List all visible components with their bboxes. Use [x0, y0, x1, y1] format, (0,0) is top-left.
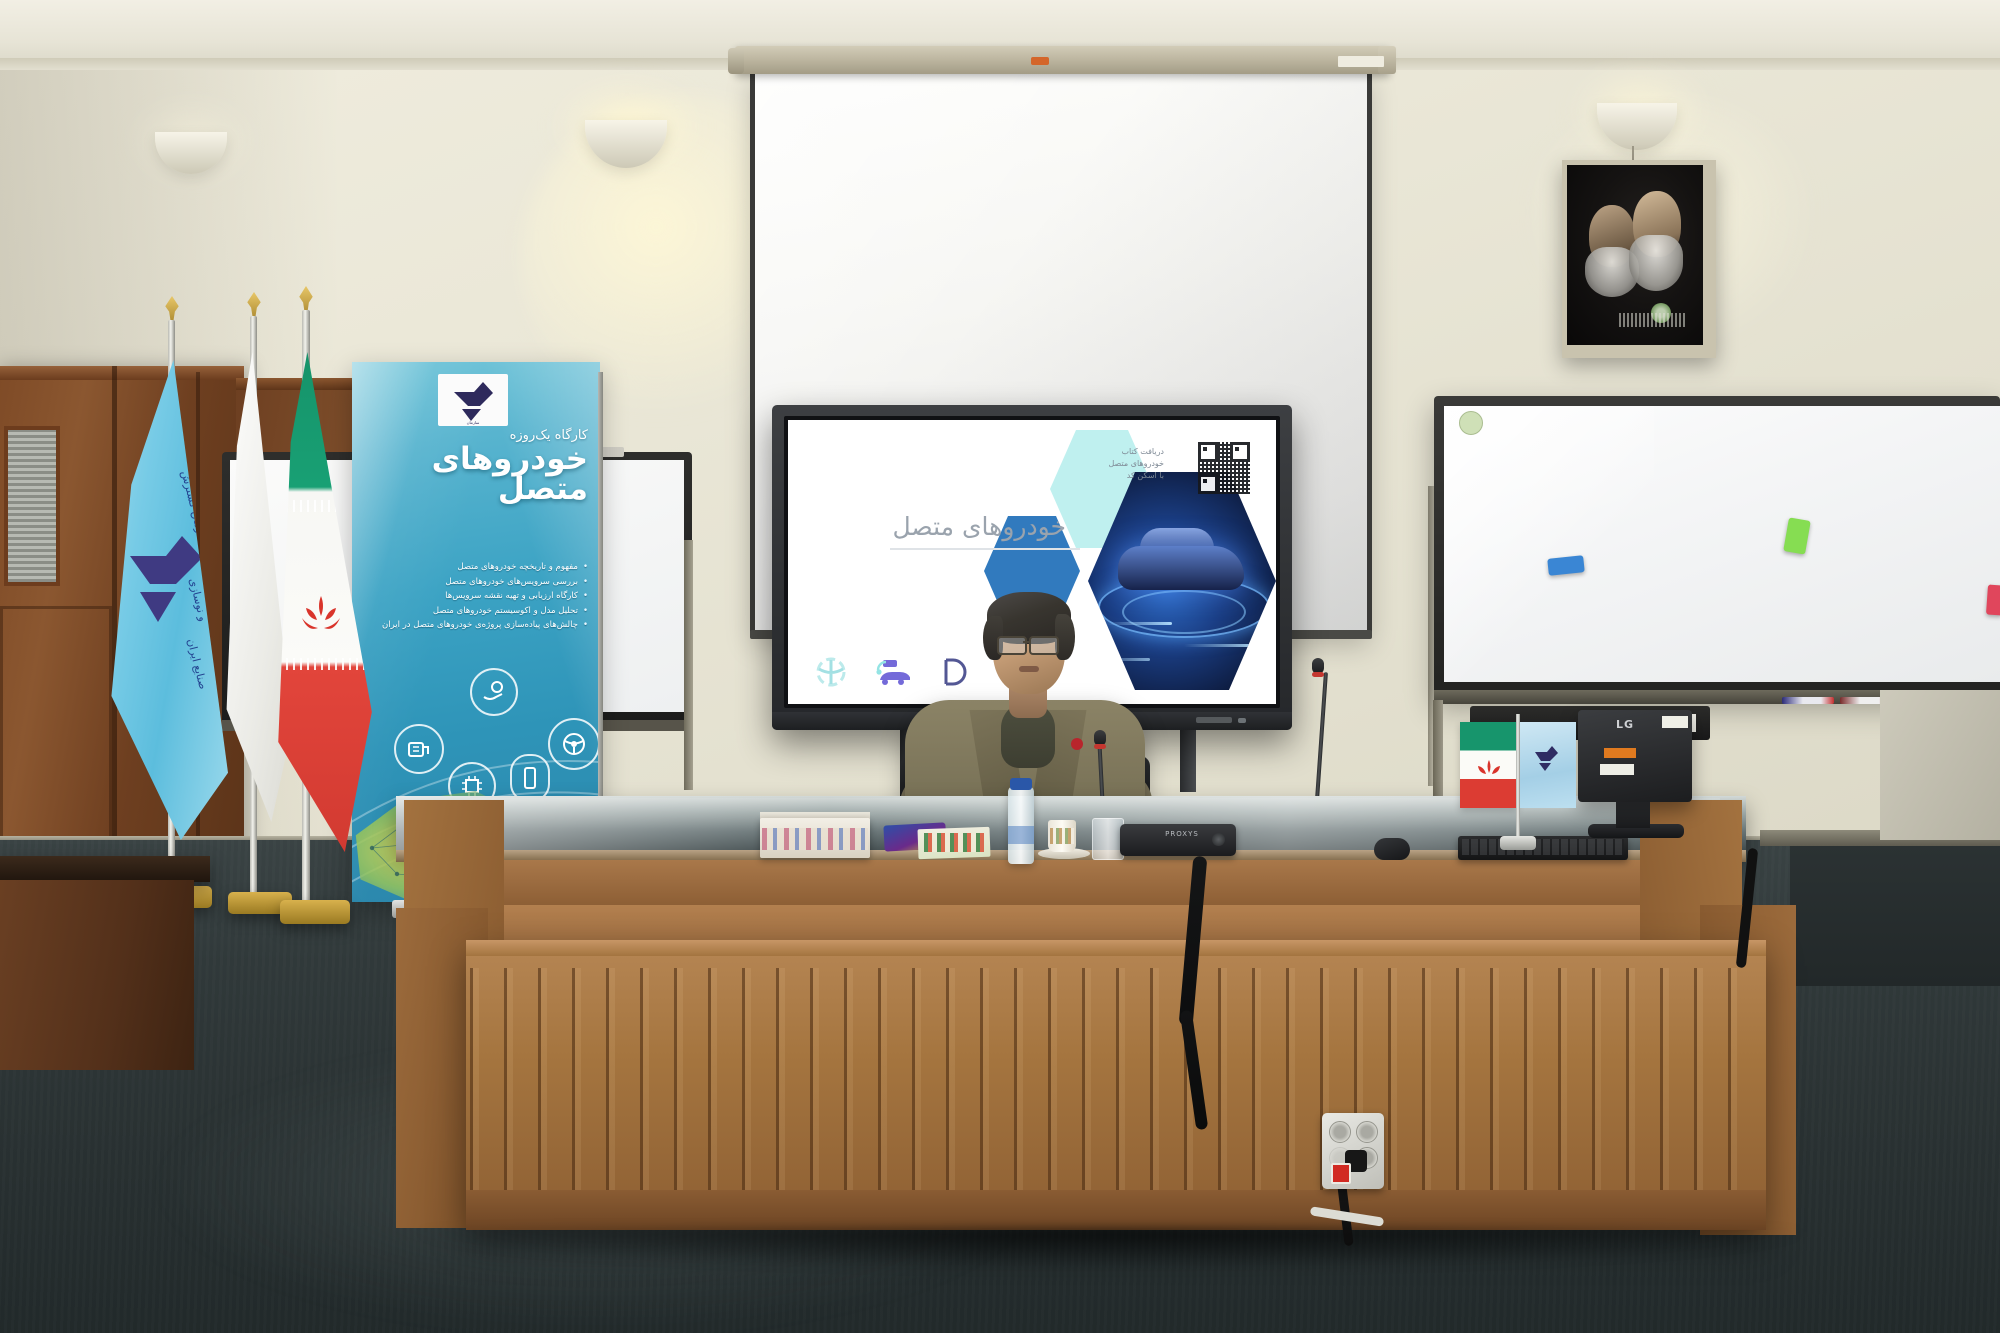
desk-front-base-rail: [466, 1190, 1766, 1230]
slide-side-note-line-1: دریافت کتاب: [1108, 446, 1164, 458]
organization-logo-icon: [1532, 742, 1562, 772]
projector-screen-housing[interactable]: [735, 46, 1390, 74]
desk-apron: [404, 860, 1738, 910]
monitor-asset-label: [1600, 764, 1634, 775]
cabinet-seam: [112, 366, 117, 866]
seminar-room-photo: خودروهای متصل دریافت کتاب خودروهای متصل …: [0, 0, 2000, 1333]
qr-eye-tr: [1230, 442, 1250, 462]
water-bottle[interactable]: [1008, 786, 1034, 864]
banner-logo: سازمان: [438, 374, 508, 426]
whiteboard-glare: [1444, 406, 1654, 682]
water-bottle-label: [1008, 826, 1034, 844]
presenter-eyeglass-bridge: [1023, 641, 1031, 643]
projector-screen-edge-left: [750, 72, 755, 637]
monitor-neck: [1616, 800, 1650, 828]
desk-flag-base: [1500, 836, 1536, 850]
power-socket-2[interactable]: [1356, 1121, 1378, 1143]
round-green-sticker-icon: [1459, 411, 1483, 435]
tea-cup-pattern: [1050, 828, 1074, 844]
slide-side-note-line-3: با اسکن کد: [1108, 470, 1164, 482]
banner-bullet: چالش‌های پیاده‌سازی پروژه‌ی خودروهای متص…: [382, 618, 588, 633]
banner-bullet: تحلیل مدل و اکوسیستم خودروهای متصل: [382, 604, 588, 619]
monitor-orange-sticker: [1604, 748, 1636, 758]
iran-desk-flag-emblem-icon: [1460, 722, 1518, 808]
computer-mouse[interactable]: [1374, 838, 1410, 860]
portrait-caption-text: [1619, 313, 1687, 327]
monitor-brand-label: LG: [1616, 718, 1658, 731]
iran-flag-emblem-icon: [300, 592, 342, 638]
projector-screen-label: [1338, 56, 1384, 67]
organization-logo-icon: سازمان: [438, 374, 508, 426]
steering-wheel-icon: [814, 656, 848, 688]
desk-floor-shadow: [420, 1228, 1800, 1270]
desk-flag-pole: [1516, 714, 1520, 842]
projector-screen-edge-right: [1367, 72, 1372, 637]
presenter-eyeglass-left: [997, 636, 1027, 655]
banner-bullet: بررسی سرویس‌های خودروهای متصل: [382, 575, 588, 590]
banner-bullet: کارگاه ارزیابی و تهیه نقشه سرویس‌ها: [382, 589, 588, 604]
slide-car-body: [1118, 546, 1244, 590]
charging-station-icon: [394, 724, 444, 774]
monitor-sticker: [1662, 716, 1688, 728]
presenter-eyeglass-right: [1029, 636, 1059, 655]
desk-slat-pattern: [470, 968, 1762, 1194]
steering-wheel-icon: [548, 718, 600, 770]
banner-bullet-list: مفهوم و تاریخچه خودروهای متصل بررسی سروی…: [382, 560, 588, 633]
portrait-beard-right: [1629, 235, 1683, 291]
display-leg-right: [1180, 730, 1196, 792]
portrait-image: [1567, 165, 1703, 345]
qr-eye-bl: [1198, 474, 1218, 494]
small-whiteboard-stand: [684, 540, 693, 790]
banner-bullet: مفهوم و تاریخچه خودروهای متصل: [382, 560, 588, 575]
qr-eye-tl: [1198, 442, 1218, 462]
svg-text:سازمان: سازمان: [467, 420, 480, 425]
slide-title: خودروهای متصل: [892, 512, 1066, 541]
power-switch[interactable]: [1331, 1163, 1351, 1184]
microphone-ring-left: [1094, 744, 1106, 749]
slide-title-rule: [890, 548, 1080, 550]
handshake-gear-icon: [470, 668, 518, 716]
projector-screen-button[interactable]: [1031, 57, 1049, 65]
display-brand-mark: [1196, 717, 1232, 723]
iran-desk-flag: [1460, 722, 1518, 808]
organization-desk-flag: [1518, 722, 1576, 808]
desk-front-top-rail: [466, 940, 1766, 956]
audio-mixer-knob[interactable]: [1212, 833, 1225, 846]
qr-code[interactable]: [1198, 442, 1250, 494]
left-side-desk-top: [0, 856, 210, 882]
keyboard-keys: [1462, 839, 1624, 855]
flag-base-iran: [280, 900, 350, 924]
cabinet-louvered-window: [4, 426, 60, 586]
audio-mixer-label: PROXYS: [1150, 830, 1214, 838]
slide-light-beam-2: [1184, 644, 1258, 647]
right-wall-panel: [1880, 690, 2000, 840]
right-wall-lower: [1790, 846, 2000, 986]
water-bottle-cap[interactable]: [1010, 778, 1032, 790]
cabinet-panel: [0, 606, 112, 852]
red-magnet[interactable]: [1986, 584, 2000, 615]
blue-marker[interactable]: [1782, 697, 1834, 704]
projector-screen-cap-left: [728, 48, 744, 74]
power-socket-1[interactable]: [1329, 1121, 1351, 1143]
presenter-mouth: [1019, 666, 1039, 672]
left-side-desk-front: [0, 880, 194, 1070]
banner-title-line-2: متصل: [432, 474, 588, 506]
snack-packet-artwork: [924, 833, 984, 852]
svg-text:صنایع ایران: صنایع ایران: [185, 637, 210, 690]
microphone-ring-center: [1312, 672, 1324, 677]
slide-side-note-line-2: خودروهای متصل: [1108, 458, 1164, 470]
display-power-led: [1238, 718, 1246, 723]
left-cabinet-top: [0, 366, 244, 380]
presenter-lapel-pin: [1071, 738, 1083, 750]
iran-flag-kufic-bottom: [272, 658, 376, 670]
banner-title-block: کارگاه یک‌روزه خودروهای متصل: [432, 428, 588, 505]
slide-side-note: دریافت کتاب خودروهای متصل با اسکن کد: [1108, 446, 1164, 482]
tissue-box-pattern: [762, 828, 868, 850]
